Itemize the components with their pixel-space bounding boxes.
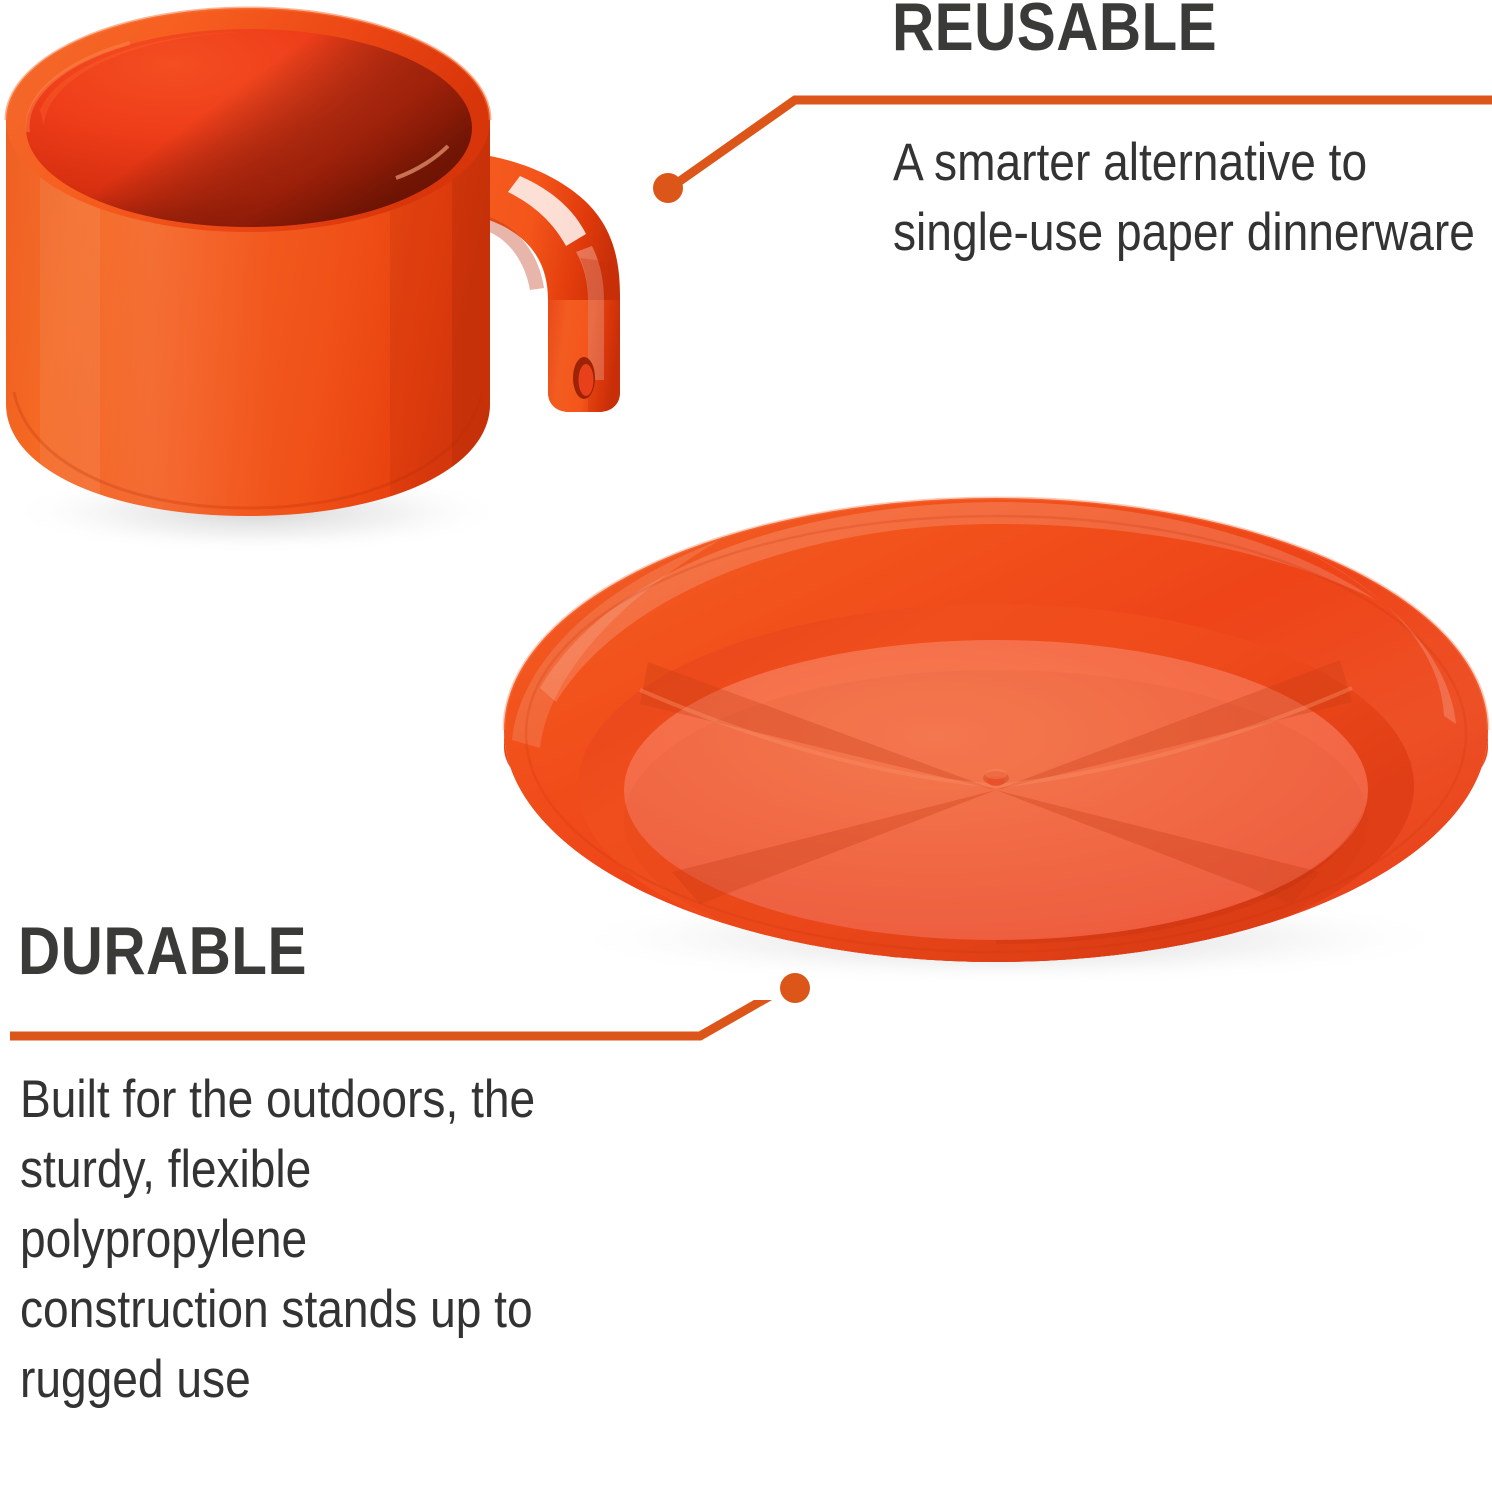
callout-reusable: REUSABLE A smarter alternative to single… xyxy=(640,0,1492,400)
callout-durable-dot xyxy=(762,956,832,1026)
callout-reusable-heading: REUSABLE xyxy=(892,0,1217,61)
callout-durable: DURABLE Built for the outdoors, the stur… xyxy=(0,900,860,1500)
dot-icon xyxy=(653,173,683,203)
callout-reusable-body: A smarter alternative to single-use pape… xyxy=(893,128,1485,268)
dot-icon xyxy=(780,973,810,1003)
mug-body-group xyxy=(6,8,492,520)
plate-center-nub xyxy=(983,769,1009,786)
mug-handle-group xyxy=(404,151,620,412)
infographic-canvas: REUSABLE A smarter alternative to single… xyxy=(0,0,1492,1500)
leader-line-icon xyxy=(10,1000,784,1036)
callout-durable-body: Built for the outdoors, the sturdy, flex… xyxy=(20,1065,559,1415)
callout-durable-heading: DURABLE xyxy=(18,918,307,985)
